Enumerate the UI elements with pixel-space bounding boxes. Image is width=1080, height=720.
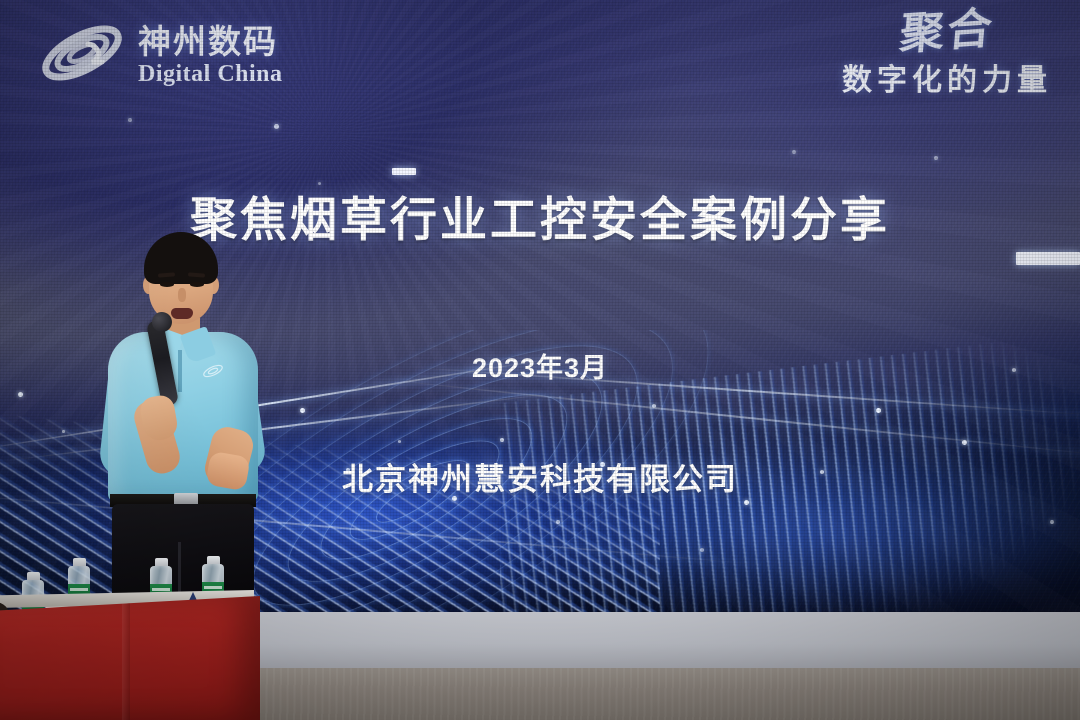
red-tablecloth [0,596,260,720]
bottle-cap [73,558,86,566]
bottle-cap [27,572,40,580]
bottle-cap [155,558,168,566]
speaker-eye-right [190,282,204,287]
speaker-figure [96,232,296,616]
speaker-mouth [171,308,193,319]
speaker-shirt-placket [178,350,182,392]
bottle-cap [207,556,220,564]
speaker-eye-left [160,282,174,287]
conference-photo: 神州数码 Digital China 聚合 数字化的力量 聚焦烟草行业工控安全案… [0,0,1080,720]
speaker-nose [178,288,186,302]
panel-table [0,572,272,720]
speaker-hair [144,232,218,284]
shirt-chest-logo-icon [200,360,226,382]
